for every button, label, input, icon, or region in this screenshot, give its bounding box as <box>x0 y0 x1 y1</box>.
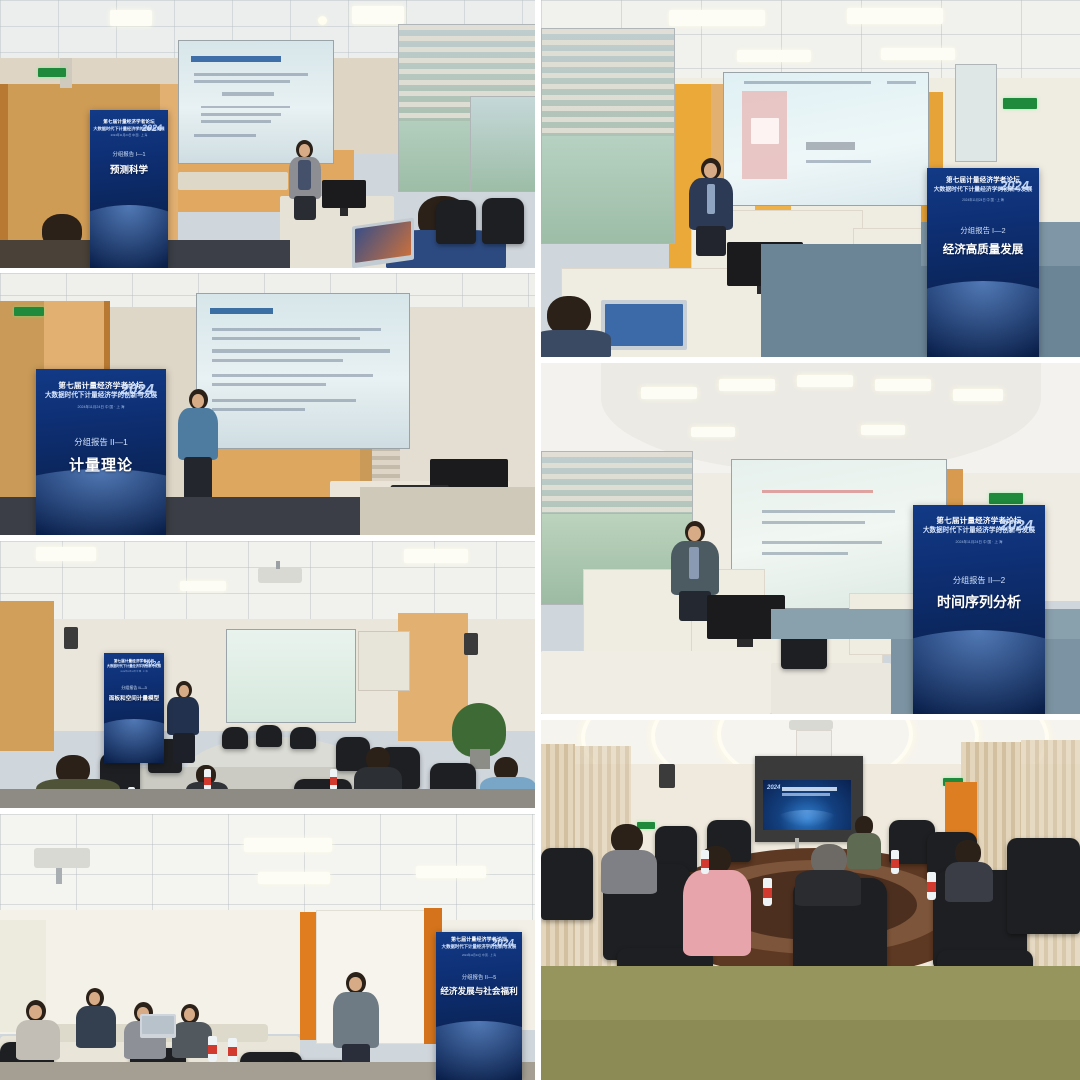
led-display-year: 2024 <box>767 785 780 791</box>
ceiling-light <box>847 8 943 24</box>
banner-year: 2024 <box>492 938 514 949</box>
water-bottle <box>208 1036 217 1062</box>
window <box>541 28 675 244</box>
audience-person <box>16 1000 60 1060</box>
banner-session-title: 时间序列分析 <box>913 592 1045 612</box>
wall-speaker <box>464 633 478 655</box>
banner-line3: 2024年11月24日 中 国 · 上 海 <box>913 540 1045 544</box>
banner-session-label: 分组报告 II—1 <box>36 436 166 448</box>
audience-person <box>172 1004 212 1058</box>
water-bottle <box>330 769 337 791</box>
scene-panel-spatial-models: 2024 第七届计量经济学者论坛 大数据时代下计量经济学的创新与发展 2024年… <box>0 541 535 808</box>
banner-session-label: 分组报告 II—2 <box>913 574 1045 586</box>
banner-year: 2024 <box>142 123 162 133</box>
photo-tile-6[interactable]: 2024 第七届计量经济学者论坛 大数据时代下计量经济学的创新与发展 2024年… <box>0 814 535 1080</box>
photo-tile-4[interactable]: 2024 第七届计量经济学者论坛 大数据时代下计量经济学的创新与发展 2024年… <box>541 363 1080 714</box>
water-bottle <box>927 872 936 900</box>
desk <box>541 651 771 714</box>
banner-year: 2024 <box>1000 178 1029 193</box>
banner-session-title: 面板和空间计量模型 <box>104 694 164 702</box>
session-banner-3-main: 2024 第七届计量经济学者论坛 大数据时代下计量经济学的创新与发展 2024年… <box>36 369 166 535</box>
ceiling-light <box>258 872 330 884</box>
audience-person <box>683 846 751 956</box>
banner-line3: 2024年11月24日 中 国 · 上 海 <box>90 134 168 137</box>
ceiling-light <box>881 48 955 60</box>
water-bottle <box>763 878 772 906</box>
banner-session-title: 计量理论 <box>36 454 166 475</box>
banner-session-label: 分组报告 II—3 <box>104 685 164 691</box>
ceiling-light <box>719 379 775 391</box>
ceiling-light <box>180 581 226 591</box>
photo-tile-7[interactable]: 2024 <box>541 720 1080 1080</box>
slide-title-underline <box>762 490 873 494</box>
banner-line3: 2024年11月24日 中 国 · 上 海 <box>104 671 164 674</box>
speaker-person <box>286 140 326 220</box>
projection-screen <box>723 72 929 206</box>
audience-person <box>601 824 655 894</box>
audience-person <box>76 988 116 1048</box>
ceiling-light <box>110 10 152 26</box>
banner-year: 2024 <box>144 661 160 668</box>
ceiling-light <box>953 389 1003 401</box>
ceiling-projector <box>789 720 833 730</box>
chair <box>290 727 316 749</box>
scene-high-quality-development: 2024 第七届计量经济学者论坛 大数据时代下计量经济学的创新与发展 2024年… <box>541 0 1080 357</box>
photo-tile-2[interactable]: 2024 第七届计量经济学者论坛 大数据时代下计量经济学的创新与发展 2024年… <box>541 0 1080 357</box>
exit-sign <box>14 307 44 316</box>
monitor <box>322 180 366 208</box>
wall-speaker <box>64 627 78 649</box>
water-bottle <box>228 1038 237 1064</box>
banner-session-title: 经济发展与社会福利 <box>436 985 522 997</box>
ceiling-light <box>416 866 486 878</box>
banner-line3: 2024年11月24日 中 国 · 上 海 <box>36 405 166 409</box>
banner-year: 2024 <box>1000 517 1033 534</box>
window-blind <box>542 452 692 515</box>
audience-person <box>541 296 603 357</box>
session-banner-1: 2024 第七届计量经济学者论坛 大数据时代下计量经济学的创新与发展 2024年… <box>90 110 168 268</box>
ceiling-projector <box>258 567 302 583</box>
exit-sign <box>989 493 1023 504</box>
ceiling-light <box>352 6 404 24</box>
water-bottle <box>204 769 211 791</box>
downlight <box>318 16 327 25</box>
scene-time-series-analysis: 2024 第七届计量经济学者论坛 大数据时代下计量经济学的创新与发展 2024年… <box>541 363 1080 714</box>
exit-sign <box>38 68 66 77</box>
banner-session-label: 分组报告 I—2 <box>927 225 1039 236</box>
ceiling-projector <box>34 848 90 868</box>
chair <box>541 848 593 920</box>
banner-session-title: 经济高质量发展 <box>927 241 1039 257</box>
scene-round-table-boardroom: 2024 <box>541 720 1080 1080</box>
session-banner-2: 2024 第七届计量经济学者论坛 大数据时代下计量经济学的创新与发展 2024年… <box>927 168 1039 357</box>
chair <box>222 727 248 749</box>
banner-session-title: 预测科学 <box>90 162 168 176</box>
chair <box>256 725 282 747</box>
ceiling-light <box>691 427 735 437</box>
laptop <box>352 218 414 268</box>
window <box>470 96 535 192</box>
photo-tile-5[interactable]: 2024 第七届计量经济学者论坛 大数据时代下计量经济学的创新与发展 2024年… <box>0 541 535 808</box>
projection-screen <box>226 629 356 723</box>
laptop <box>601 300 687 350</box>
water-bottle <box>701 850 709 874</box>
chair <box>1007 838 1080 934</box>
monitor-stand <box>340 208 348 216</box>
session-banner-6: 2024 第七届计量经济学者论坛 大数据时代下计量经济学的创新与发展 2024年… <box>436 932 522 1080</box>
ceiling-light <box>797 375 853 387</box>
session-banner-4: 2024 第七届计量经济学者论坛 大数据时代下计量经济学的创新与发展 2024年… <box>913 505 1045 714</box>
audience-person <box>945 840 991 902</box>
ceiling-light <box>861 425 905 435</box>
projection-screen <box>196 293 410 449</box>
ceiling-light <box>36 547 96 561</box>
ceiling-light <box>641 387 697 399</box>
ceiling-light <box>875 379 931 391</box>
laptop <box>140 1014 176 1038</box>
window-blind <box>542 29 674 136</box>
banner-line3: 2024年11月24日 中 国 · 上 海 <box>927 198 1039 202</box>
speaker-person <box>166 681 202 763</box>
window <box>955 64 997 162</box>
photo-tile-3[interactable]: 2024 第七届计量经济学者论坛 大数据时代下计量经济学的创新与发展 2024年… <box>0 273 535 535</box>
scene-econometric-theory: 2024 第七届计量经济学者论坛 大数据时代下计量经济学的创新与发展 2024年… <box>0 273 535 535</box>
ceiling-light <box>669 10 765 26</box>
banner-line3: 2024年11月24日 中 国 · 上 海 <box>436 954 522 957</box>
monitor-stand <box>737 639 753 647</box>
desk <box>771 663 891 714</box>
banner-session-label: 分组报告 II—5 <box>436 973 522 981</box>
speaker-person <box>176 389 222 505</box>
scene-predictive-science: 2024 第七届计量经济学者论坛 大数据时代下计量经济学的创新与发展 2024年… <box>0 0 535 268</box>
water-bottle <box>891 850 899 874</box>
scene-development-welfare: 2024 第七届计量经济学者论坛 大数据时代下计量经济学的创新与发展 2024年… <box>0 814 535 1080</box>
banner-year: 2024 <box>121 381 154 398</box>
photo-collage: 2024 第七届计量经济学者论坛 大数据时代下计量经济学的创新与发展 2024年… <box>0 0 1080 1080</box>
ceiling-light <box>404 549 468 563</box>
exit-sign <box>1003 98 1037 109</box>
session-banner-5-main: 2024 第七届计量经济学者论坛 大数据时代下计量经济学的创新与发展 2024年… <box>104 653 164 763</box>
audience-person <box>847 816 881 870</box>
banner-session-label: 分组报告 I—1 <box>90 150 168 158</box>
ceiling-light <box>244 838 332 852</box>
photo-tile-1[interactable]: 2024 第七届计量经济学者论坛 大数据时代下计量经济学的创新与发展 2024年… <box>0 0 535 268</box>
wall-speaker <box>659 764 675 788</box>
chair <box>436 200 476 244</box>
doorway <box>300 912 316 1040</box>
desk-front <box>178 172 288 190</box>
ceiling-light <box>737 50 811 62</box>
chair <box>482 198 524 244</box>
